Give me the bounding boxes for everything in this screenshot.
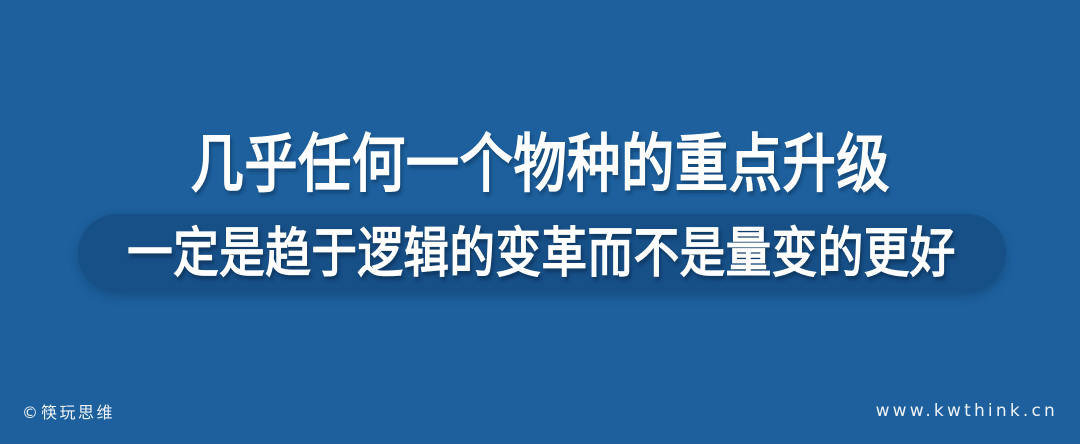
- headline-line-1-text: 几乎任何一个物种的重点升级: [190, 132, 890, 196]
- copyright-icon: ©: [22, 403, 38, 422]
- headline-line-1: 几乎任何一个物种的重点升级: [0, 122, 1080, 206]
- highlight-pill-background: 一定是趋于逻辑的变革而不是量变的更好: [78, 214, 1006, 292]
- footer: © 筷玩思维 www.kwthink.cn: [0, 386, 1080, 444]
- highlight-pill: 一定是趋于逻辑的变革而不是量变的更好: [78, 214, 1006, 292]
- copyright-credit: © 筷玩思维: [22, 399, 115, 423]
- site-url: www.kwthink.cn: [876, 401, 1058, 421]
- brand-name: 筷玩思维: [41, 399, 115, 423]
- quote-banner: 几乎任何一个物种的重点升级 一定是趋于逻辑的变革而不是量变的更好 © 筷玩思维 …: [0, 0, 1080, 444]
- headline-line-2-text: 一定是趋于逻辑的变革而不是量变的更好: [128, 226, 957, 280]
